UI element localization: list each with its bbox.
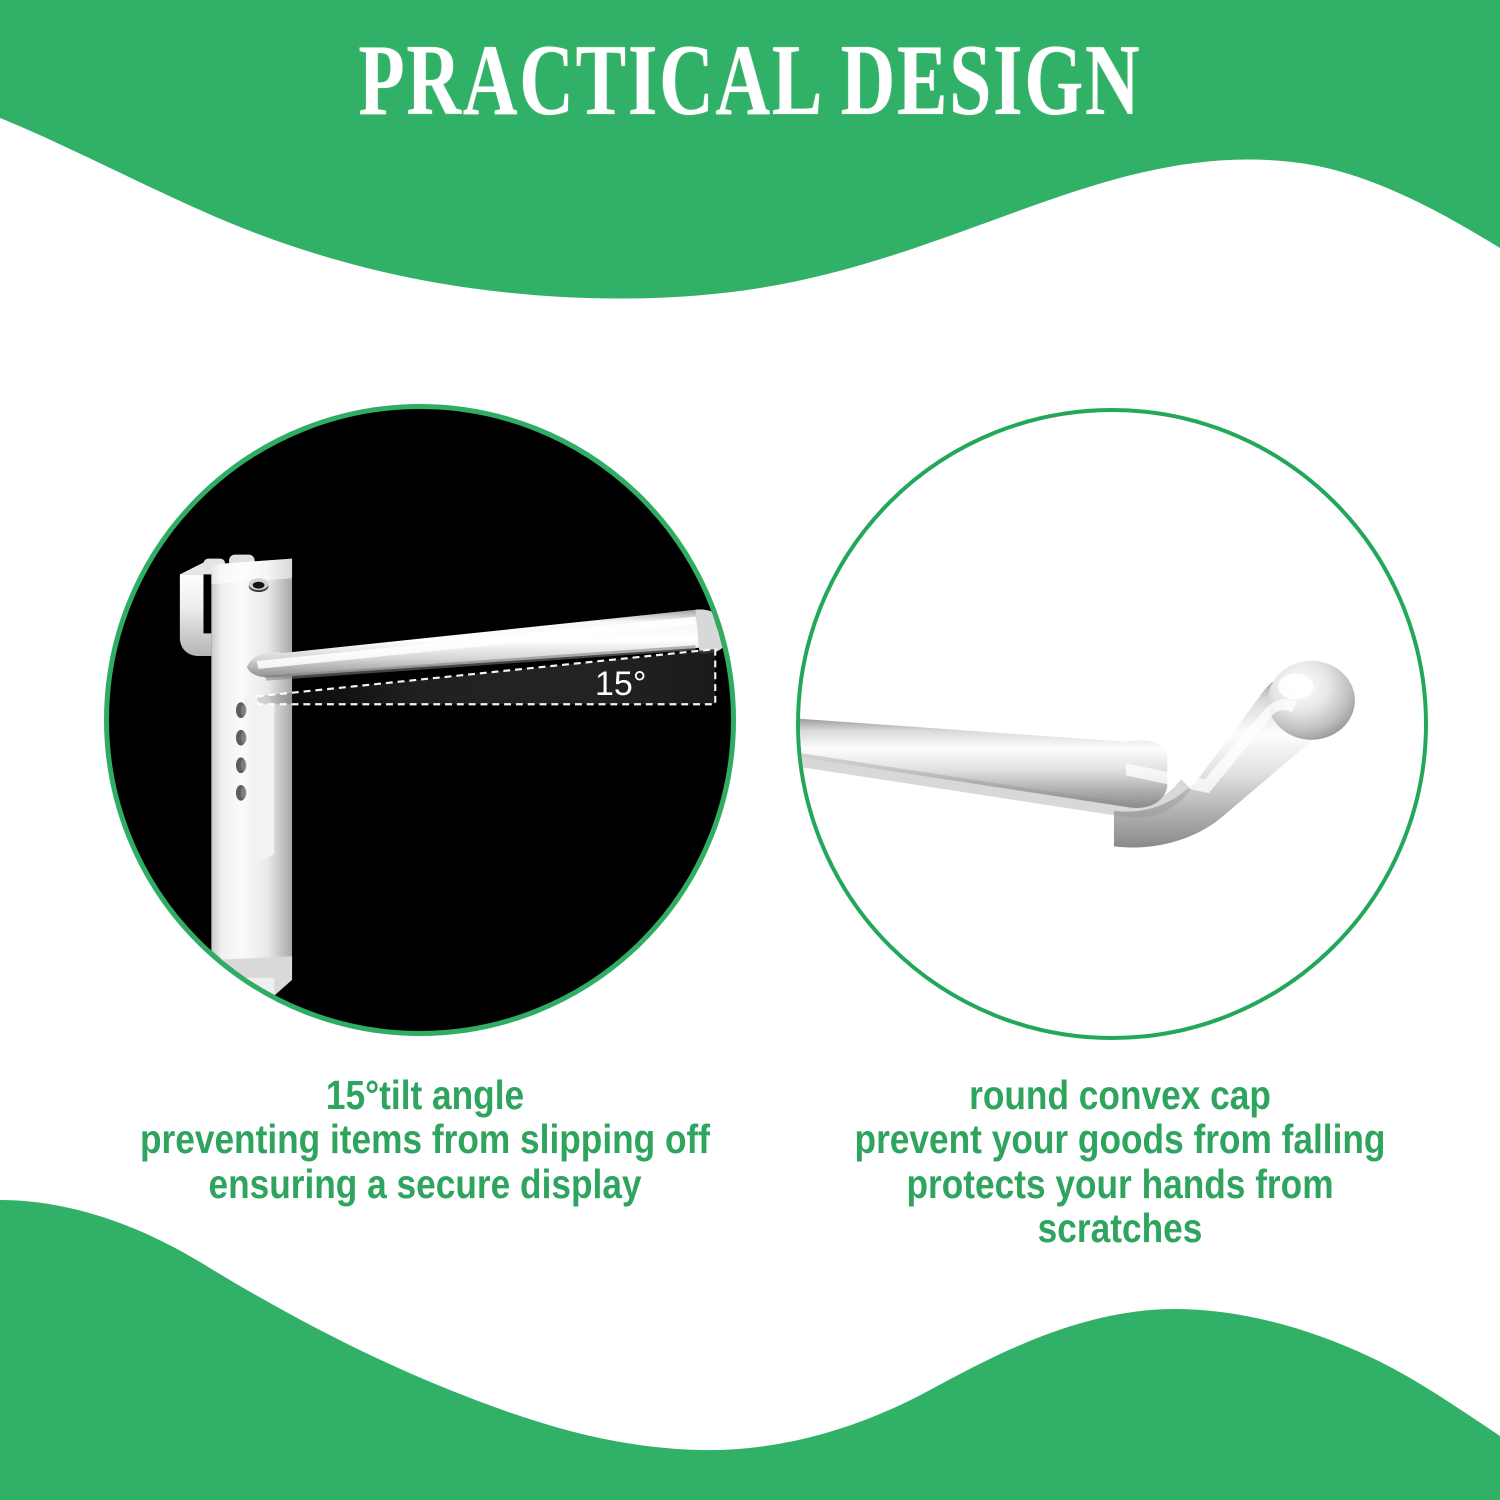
caption-line: preventing items from slipping off <box>111 1117 739 1161</box>
caption-line: ensuring a secure display <box>111 1162 739 1206</box>
caption-line: protects your hands from <box>836 1162 1404 1206</box>
page-title-bar: PRACTICAL DESIGN <box>0 0 1500 160</box>
hook-convex-tip-icon <box>800 661 1355 848</box>
caption-line: scratches <box>836 1206 1404 1250</box>
page-title: PRACTICAL DESIGN <box>358 29 1141 130</box>
tilt-angle-value-label: 15° <box>595 665 646 704</box>
tilt-angle-photo-circle: 15° <box>104 404 736 1036</box>
infographic-page: PRACTICAL DESIGN <box>0 0 1500 1500</box>
convex-cap-photo-circle <box>796 408 1428 1040</box>
caption-tilt-angle: 15°tilt angle preventing items from slip… <box>111 1073 739 1206</box>
caption-convex-cap: round convex cap prevent your goods from… <box>836 1073 1404 1250</box>
panel-tilt-angle: 15° <box>104 404 740 1036</box>
caption-line: 15°tilt angle <box>111 1073 739 1117</box>
caption-line: prevent your goods from falling <box>836 1117 1404 1161</box>
panel-convex-cap <box>796 408 1436 1040</box>
caption-line: round convex cap <box>836 1073 1404 1117</box>
gridwall-bracket-icon <box>180 555 292 996</box>
